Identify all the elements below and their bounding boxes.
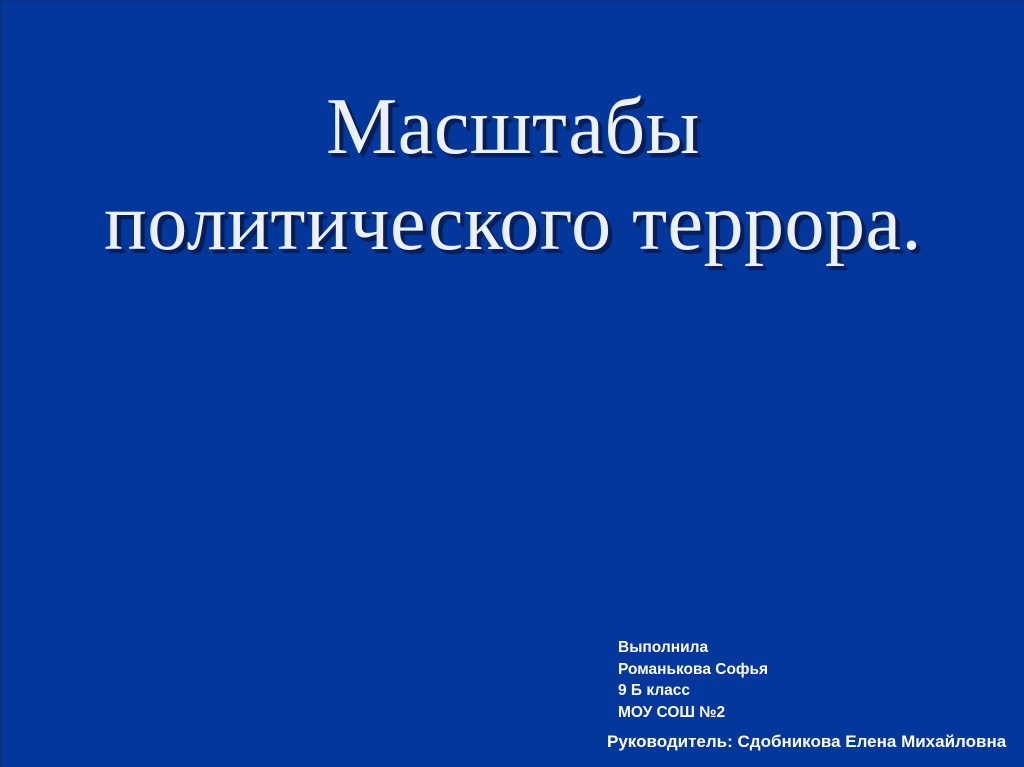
title-line-2: политического террора. (1, 175, 1024, 271)
slide-title: Масштабы политического террора. (1, 79, 1024, 271)
title-line-1: Масштабы (1, 79, 1024, 175)
author-class: 9 Б класс (618, 680, 1018, 702)
author-role-label: Выполнила (618, 637, 1018, 659)
presentation-title-slide: Масштабы политического террора. Выполнил… (0, 0, 1024, 767)
supervisor-credit: Руководитель: Сдобникова Елена Михайловн… (607, 731, 1006, 753)
author-school: МОУ СОШ №2 (618, 702, 1018, 724)
author-credits-block: Выполнила Романькова Софья 9 Б класс МОУ… (618, 637, 1018, 723)
author-name: Романькова Софья (618, 659, 1018, 681)
